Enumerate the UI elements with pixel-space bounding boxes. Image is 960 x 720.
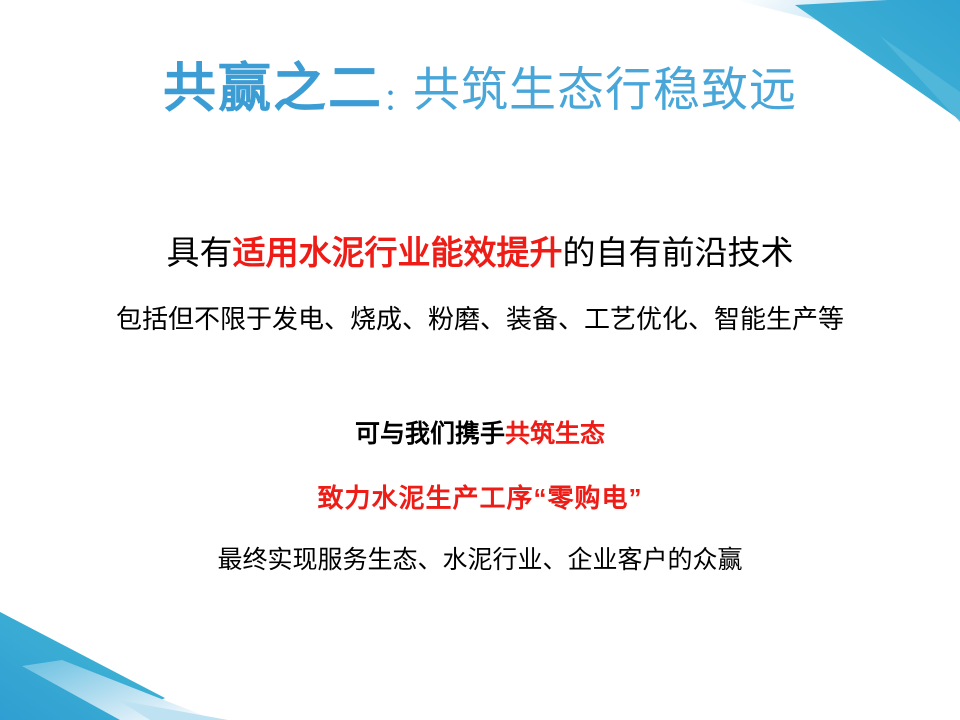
body-line-4: 致力水泥生产工序“零购电” [0, 485, 960, 511]
slide-title-sub: 共筑生态行稳致远 [413, 63, 797, 116]
body-line-5: 最终实现服务生态、水泥行业、企业客户的众赢 [0, 548, 960, 573]
slide-title-separator: ： [383, 84, 413, 117]
ribbon-bottom-left-light-2 [118, 700, 228, 720]
body-line-1-seg-3: 的自有前沿技术 [563, 234, 794, 271]
body-line-2: 包括但不限于发电、烧成、粉磨、装备、工艺优化、智能生产等 [0, 306, 960, 332]
body-line-1-seg-1: 具有 [167, 234, 233, 271]
ribbon-bottom-left-light [22, 660, 215, 720]
slide-title-main: 共赢之二 [163, 59, 383, 118]
body-line-4-seg-1-highlight: 致力水泥生产工序“零购电” [317, 483, 642, 513]
body-line-3-seg-2-highlight: 共筑生态 [505, 420, 605, 448]
slide-canvas: 共赢之二：共筑生态行稳致远 具有适用水泥行业能效提升的自有前沿技术 包括但不限于… [0, 0, 960, 720]
ribbon-bottom-left-solid [0, 612, 160, 720]
body-line-2-seg-1: 包括但不限于发电、烧成、粉磨、装备、工艺优化、智能生产等 [116, 304, 844, 334]
body-line-1: 具有适用水泥行业能效提升的自有前沿技术 [0, 236, 960, 269]
body-line-3: 可与我们携手共筑生态 [0, 422, 960, 447]
body-line-3-seg-1: 可与我们携手 [355, 420, 505, 448]
body-line-5-seg-1: 最终实现服务生态、水泥行业、企业客户的众赢 [217, 546, 742, 574]
slide-title: 共赢之二：共筑生态行稳致远 [0, 62, 960, 115]
ribbon-bottom-left-solid-2 [0, 612, 165, 720]
body-line-1-seg-2-highlight: 适用水泥行业能效提升 [233, 234, 563, 271]
